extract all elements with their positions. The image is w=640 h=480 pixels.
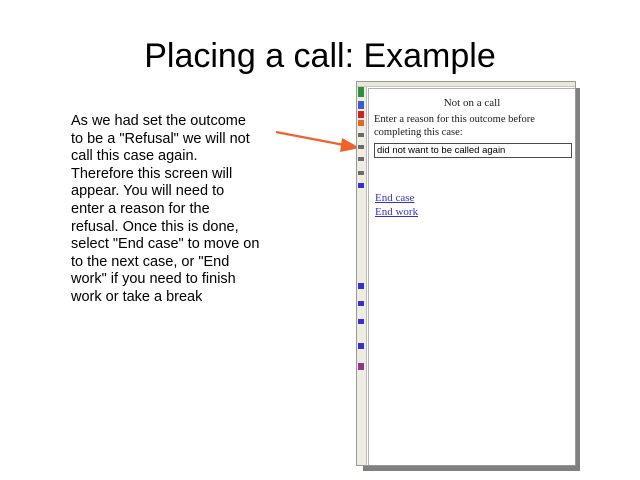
fragment-orange <box>358 120 364 126</box>
dialog-content-area: Not on a call Enter a reason for this ou… <box>368 88 576 466</box>
fragment-red <box>358 111 364 118</box>
browser-toolbar-strip <box>357 82 576 87</box>
background-window-sliver <box>357 87 367 466</box>
arrow-icon <box>268 118 368 164</box>
fragment-gray-3 <box>358 157 364 161</box>
end-work-link[interactable]: End work <box>375 206 418 218</box>
fragment-blue <box>358 101 364 109</box>
slide-body-text: As we had set the outcome to be a "Refus… <box>71 113 261 307</box>
presentation-slide: Placing a call: Example As we had set th… <box>0 0 640 480</box>
fragment-blue-link-5 <box>358 343 364 349</box>
reason-input[interactable] <box>374 143 572 158</box>
fragment-gray-4 <box>358 171 364 175</box>
fragment-green <box>358 87 364 97</box>
arrow-shaft <box>276 132 344 145</box>
fragment-gray-1 <box>358 133 364 137</box>
fragment-blue-link-3 <box>358 301 364 306</box>
slide-title: Placing a call: Example <box>0 36 640 76</box>
dialog-heading: Not on a call <box>369 97 575 109</box>
fragment-blue-link-4 <box>358 319 364 324</box>
embedded-screenshot: Not on a call Enter a reason for this ou… <box>356 81 576 466</box>
arrow-annotation <box>268 118 368 164</box>
fragment-blue-link-2 <box>358 283 364 289</box>
fragment-gray-2 <box>358 145 364 149</box>
reason-input-wrapper <box>374 140 572 155</box>
dialog-instruction-text: Enter a reason for this outcome before c… <box>374 113 574 139</box>
end-case-link[interactable]: End case <box>375 192 414 204</box>
fragment-purple-link <box>358 363 364 370</box>
fragment-blue-link-1 <box>358 183 364 188</box>
